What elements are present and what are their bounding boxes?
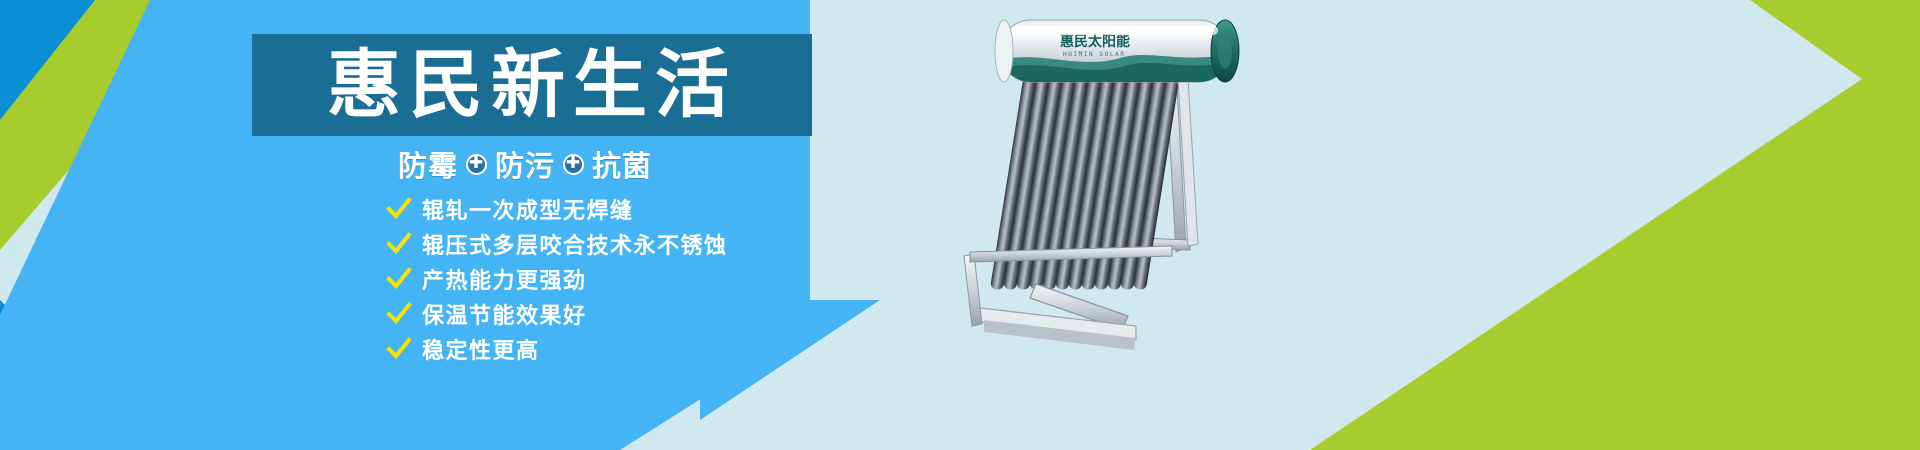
plus-glyph-2: ✚ bbox=[566, 155, 581, 172]
background-shape-lime-right bbox=[1180, 0, 1920, 450]
tank-sub-text: HUIMIN SOLAR bbox=[1063, 51, 1126, 58]
feature-label: 辊压式多层咬合技术永不锈蚀 bbox=[422, 228, 728, 260]
list-item: 辊轧一次成型无焊缝 bbox=[386, 192, 846, 225]
subtitle-part-2: 防污 bbox=[495, 143, 555, 185]
plus-icon-2: ✚ bbox=[563, 154, 584, 175]
feature-label: 保温节能效果好 bbox=[422, 298, 587, 330]
subtitle-part-1: 防霉 bbox=[398, 143, 458, 185]
feature-list: 辊轧一次成型无焊缝 辊压式多层咬合技术永不锈蚀 产热能力更强劲 保温节能效果好 bbox=[386, 192, 846, 367]
plus-icon-1: ✚ bbox=[466, 154, 487, 175]
list-item: 产热能力更强劲 bbox=[386, 262, 846, 295]
list-item: 稳定性更高 bbox=[386, 332, 846, 365]
page-title: 惠民新生活 bbox=[282, 38, 782, 132]
feature-label: 辊轧一次成型无焊缝 bbox=[422, 193, 634, 225]
subtitle: 防霉 ✚ 防污 ✚ 抗菌 bbox=[380, 143, 670, 185]
plus-glyph-1: ✚ bbox=[469, 155, 484, 172]
check-icon bbox=[386, 336, 412, 362]
feature-label: 产热能力更强劲 bbox=[422, 263, 587, 295]
check-icon bbox=[386, 231, 412, 257]
tank-brand-text: 惠民太阳能 bbox=[1060, 33, 1130, 50]
feature-label: 稳定性更高 bbox=[422, 333, 540, 365]
promo-banner: 惠民新生活 防霉 ✚ 防污 ✚ 抗菌 辊轧一次成型无焊缝 辊压式多层咬合技术永不… bbox=[0, 0, 1920, 450]
list-item: 保温节能效果好 bbox=[386, 297, 846, 330]
check-icon bbox=[386, 301, 412, 327]
check-icon bbox=[386, 266, 412, 292]
list-item: 辊压式多层咬合技术永不锈蚀 bbox=[386, 227, 846, 260]
check-icon bbox=[386, 196, 412, 222]
product-image-solar-water-heater: 惠民太阳能 HUIMIN SOLAR bbox=[940, 8, 1280, 358]
subtitle-part-3: 抗菌 bbox=[592, 143, 652, 185]
